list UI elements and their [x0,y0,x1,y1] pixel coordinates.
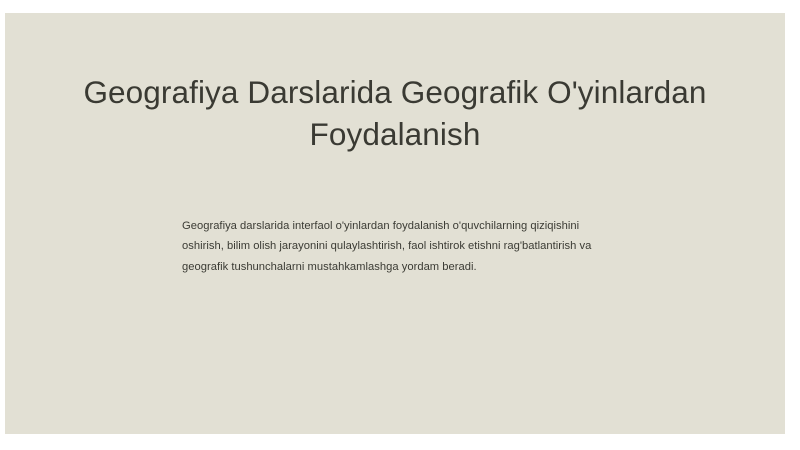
page-title: Geografiya Darslarida Geografik O'yinlar… [65,71,725,155]
title-placeholder[interactable]: Geografiya Darslarida Geografik O'yinlar… [65,71,725,155]
body-paragraph: Geografiya darslarida interfaol o'yinlar… [182,216,600,277]
presentation-canvas: Geografiya Darslarida Geografik O'yinlar… [0,0,800,450]
slide-surface[interactable]: Geografiya Darslarida Geografik O'yinlar… [5,13,785,434]
body-placeholder[interactable]: Geografiya darslarida interfaol o'yinlar… [182,216,600,277]
